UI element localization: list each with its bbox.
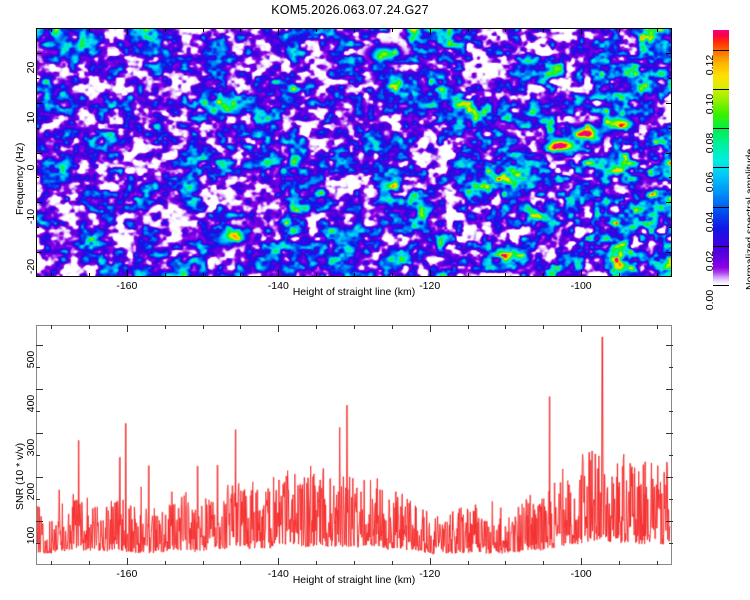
snr-y-tick bbox=[666, 521, 673, 522]
spectrogram-y-tick-label: -10 bbox=[25, 201, 37, 232]
spectrogram-x-minor-tick bbox=[240, 28, 241, 32]
snr-x-minor-tick bbox=[165, 325, 166, 329]
snr-x-minor-tick bbox=[316, 325, 317, 329]
snr-x-minor-tick bbox=[89, 561, 90, 565]
snr-x-minor-tick bbox=[505, 325, 506, 329]
snr-y-tick bbox=[36, 433, 43, 434]
spectrogram-x-minor-tick bbox=[505, 28, 506, 32]
spectrogram-x-minor-tick bbox=[657, 28, 658, 32]
spectrogram-x-minor-tick bbox=[657, 273, 658, 277]
spectrogram-x-minor-tick bbox=[89, 273, 90, 277]
snr-y-tick bbox=[666, 389, 673, 390]
snr-x-minor-tick bbox=[240, 561, 241, 565]
snr-x-minor-tick bbox=[657, 325, 658, 329]
spectrogram-x-minor-tick bbox=[316, 273, 317, 277]
snr-x-minor-tick bbox=[203, 325, 204, 329]
figure: KOM5.2026.063.07.24.G27 Frequency (Hz) -… bbox=[0, 0, 750, 600]
spectrogram-x-minor-tick bbox=[543, 273, 544, 277]
colorbar-tick-label: 0.00 bbox=[704, 284, 716, 316]
snr-trace bbox=[37, 326, 671, 564]
snr-x-minor-tick bbox=[505, 561, 506, 565]
spectrogram-x-axis-label: Height of straight line (km) bbox=[204, 286, 504, 298]
snr-y-tick bbox=[36, 345, 43, 346]
snr-x-minor-tick bbox=[316, 561, 317, 565]
spectrogram-plot bbox=[36, 28, 672, 277]
spectrogram-x-tick bbox=[581, 270, 582, 277]
spectrogram-x-minor-tick bbox=[165, 28, 166, 32]
snr-x-tick bbox=[581, 558, 582, 565]
snr-x-tick bbox=[278, 558, 279, 565]
colorbar-tick-label: 0.10 bbox=[704, 88, 716, 120]
colorbar-label: Normalized spectral amplitude bbox=[744, 149, 750, 290]
spectrogram-y-tick-label: 20 bbox=[25, 52, 37, 83]
spectrogram-x-tick bbox=[278, 28, 279, 35]
spectrogram-x-minor-tick bbox=[203, 273, 204, 277]
snr-x-minor-tick bbox=[468, 325, 469, 329]
snr-x-tick bbox=[430, 325, 431, 332]
colorbar-tick-label: 0.06 bbox=[704, 166, 716, 198]
spectrogram-y-tick bbox=[666, 53, 672, 54]
spectrogram-x-tick-label: -100 bbox=[551, 280, 611, 292]
snr-y-tick-label: 200 bbox=[25, 476, 37, 507]
snr-y-minor-tick bbox=[669, 455, 673, 456]
snr-x-tick bbox=[581, 325, 582, 332]
snr-x-tick bbox=[127, 325, 128, 332]
spectrogram-x-tick bbox=[278, 270, 279, 277]
spectrogram-x-minor-tick bbox=[354, 273, 355, 277]
spectrogram-x-tick-label: -160 bbox=[97, 280, 157, 292]
snr-y-tick-label: 100 bbox=[25, 520, 37, 551]
spectrogram-x-minor-tick bbox=[619, 273, 620, 277]
colorbar-tick-label: 0.12 bbox=[704, 49, 716, 81]
snr-plot bbox=[36, 325, 672, 565]
snr-x-minor-tick bbox=[89, 325, 90, 329]
snr-x-minor-tick bbox=[619, 561, 620, 565]
snr-y-minor-tick bbox=[669, 499, 673, 500]
spectrogram-x-minor-tick bbox=[316, 28, 317, 32]
colorbar-tick-label: 0.08 bbox=[704, 127, 716, 159]
snr-x-minor-tick bbox=[165, 561, 166, 565]
spectrogram-x-minor-tick bbox=[89, 28, 90, 32]
spectrogram-y-minor-tick bbox=[669, 177, 672, 178]
snr-x-minor-tick bbox=[543, 325, 544, 329]
spectrogram-x-minor-tick bbox=[165, 273, 166, 277]
snr-y-minor-tick bbox=[669, 367, 673, 368]
spectrogram-y-tick-label: -20 bbox=[25, 251, 37, 282]
snr-x-minor-tick bbox=[240, 325, 241, 329]
snr-y-minor-tick bbox=[669, 411, 673, 412]
snr-x-minor-tick bbox=[51, 561, 52, 565]
snr-y-tick bbox=[666, 477, 673, 478]
snr-x-tick-label: -100 bbox=[551, 568, 611, 580]
spectrogram-y-tick bbox=[666, 103, 672, 104]
spectrogram-x-minor-tick bbox=[354, 28, 355, 32]
spectrogram-x-minor-tick bbox=[203, 28, 204, 32]
snr-x-minor-tick bbox=[468, 561, 469, 565]
snr-x-minor-tick bbox=[619, 325, 620, 329]
spectrogram-x-minor-tick bbox=[468, 273, 469, 277]
spectrogram-x-minor-tick bbox=[392, 28, 393, 32]
colorbar-tick-label: 0.04 bbox=[704, 206, 716, 238]
spectrogram-y-minor-tick bbox=[669, 128, 672, 129]
colorbar-tick-label: 0.02 bbox=[704, 245, 716, 277]
spectrogram-y-tick-label: 10 bbox=[25, 102, 37, 133]
spectrogram-x-minor-tick bbox=[619, 28, 620, 32]
spectrogram-x-tick bbox=[430, 28, 431, 35]
snr-y-tick bbox=[36, 389, 43, 390]
spectrogram-x-tick bbox=[127, 28, 128, 35]
spectrogram-x-minor-tick bbox=[51, 273, 52, 277]
snr-x-tick bbox=[127, 558, 128, 565]
snr-y-tick-label: 300 bbox=[25, 432, 37, 463]
spectrogram-image bbox=[37, 29, 671, 276]
page-title: KOM5.2026.063.07.24.G27 bbox=[0, 3, 700, 17]
snr-x-axis-label: Height of straight line (km) bbox=[204, 574, 504, 586]
spectrogram-y-tick bbox=[666, 153, 672, 154]
spectrogram-y-minor-tick bbox=[669, 78, 672, 79]
snr-y-tick bbox=[666, 345, 673, 346]
snr-x-minor-tick bbox=[203, 561, 204, 565]
snr-x-minor-tick bbox=[51, 325, 52, 329]
spectrogram-x-minor-tick bbox=[240, 273, 241, 277]
snr-y-tick bbox=[36, 521, 43, 522]
spectrogram-x-minor-tick bbox=[468, 28, 469, 32]
snr-x-minor-tick bbox=[392, 325, 393, 329]
snr-x-minor-tick bbox=[392, 561, 393, 565]
snr-x-minor-tick bbox=[543, 561, 544, 565]
spectrogram-y-tick-label: 0 bbox=[25, 152, 37, 183]
snr-y-tick bbox=[36, 477, 43, 478]
snr-y-tick-label: 400 bbox=[25, 388, 37, 419]
snr-x-minor-tick bbox=[354, 561, 355, 565]
spectrogram-x-tick bbox=[127, 270, 128, 277]
snr-x-tick bbox=[430, 558, 431, 565]
spectrogram-x-tick bbox=[430, 270, 431, 277]
spectrogram-x-minor-tick bbox=[51, 28, 52, 32]
spectrogram-y-tick bbox=[666, 202, 672, 203]
spectrogram-y-tick bbox=[666, 252, 672, 253]
snr-x-minor-tick bbox=[354, 325, 355, 329]
snr-x-minor-tick bbox=[657, 561, 658, 565]
spectrogram-y-minor-tick bbox=[669, 227, 672, 228]
spectrogram-x-minor-tick bbox=[543, 28, 544, 32]
spectrogram-x-tick bbox=[581, 28, 582, 35]
snr-x-tick bbox=[278, 325, 279, 332]
snr-x-tick-label: -160 bbox=[97, 568, 157, 580]
snr-y-tick bbox=[666, 433, 673, 434]
snr-y-minor-tick bbox=[669, 543, 673, 544]
spectrogram-x-minor-tick bbox=[392, 273, 393, 277]
spectrogram-x-minor-tick bbox=[505, 273, 506, 277]
snr-y-tick-label: 500 bbox=[25, 344, 37, 375]
